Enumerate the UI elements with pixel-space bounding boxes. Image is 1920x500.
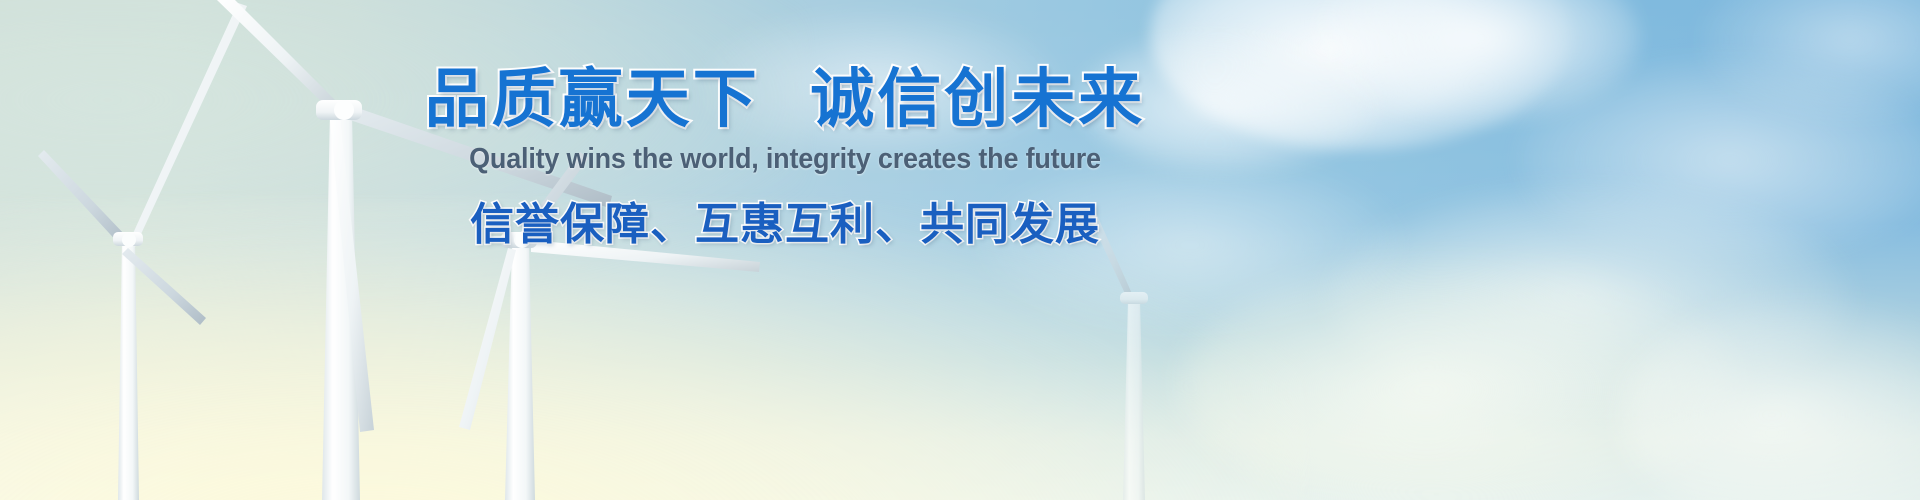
wind-turbines-group [0, 0, 1920, 500]
wind-turbine-back [1086, 206, 1148, 500]
promo-banner: 品质赢天下 诚信创未来 Quality wins the world, inte… [0, 0, 1920, 500]
wind-turbine-left [38, 3, 247, 500]
